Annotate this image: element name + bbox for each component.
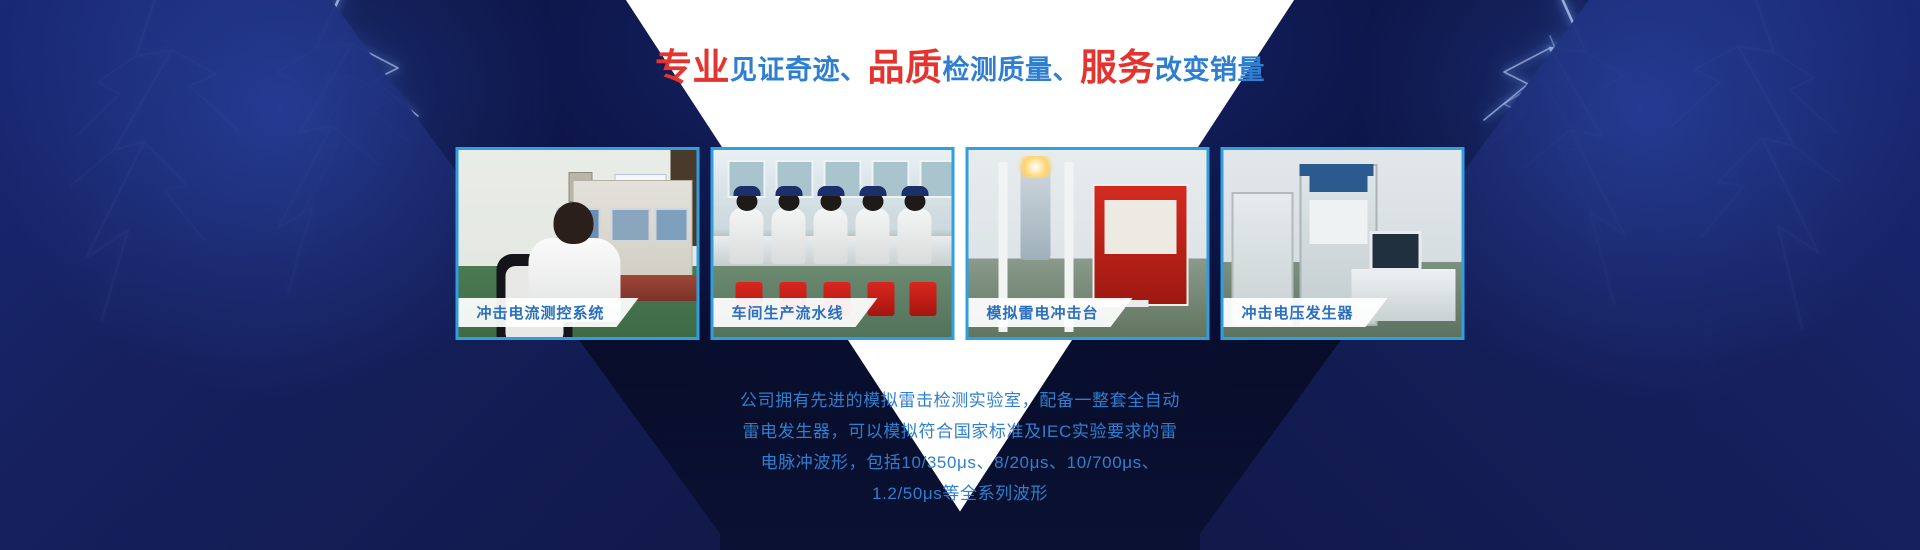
banner-content: 专业见证奇迹、品质检测质量、服务改变销量 冲击电流测控 (0, 0, 1920, 550)
headline-segment-2: 见证奇迹、 (730, 55, 868, 85)
headline-segment-1: 专业 (655, 47, 730, 88)
hero-banner: 专业见证奇迹、品质检测质量、服务改变销量 冲击电流测控 (0, 0, 1920, 550)
photo-card[interactable]: 模拟雷电冲击台 (966, 147, 1210, 340)
headline-segment-4: 检测质量、 (943, 55, 1081, 85)
page-title: 专业见证奇迹、品质检测质量、服务改变销量 (0, 46, 1920, 93)
description-line: 电脉冲波形，包括10/350μs、8/20μs、10/700μs、 (610, 447, 1310, 478)
description-text: 公司拥有先进的模拟雷击检测实验室，配备一整套全自动 雷电发生器，可以模拟符合国家… (610, 385, 1310, 509)
photo-card-caption: 冲击电流测控系统 (459, 298, 639, 327)
photo-card[interactable]: 冲击电流测控系统 (456, 147, 700, 340)
photo-card-list: 冲击电流测控系统 (456, 147, 1465, 340)
description-line: 雷电发生器，可以模拟符合国家标准及IEC实验要求的雷 (610, 416, 1310, 447)
headline-segment-6: 改变销量 (1155, 55, 1265, 85)
photo-card-caption: 模拟雷电冲击台 (969, 298, 1133, 327)
headline-segment-5: 服务 (1080, 47, 1155, 88)
photo-card-caption: 冲击电压发生器 (1224, 298, 1388, 327)
photo-card[interactable]: 冲击电压发生器 (1221, 147, 1465, 340)
headline-segment-3: 品质 (868, 47, 943, 88)
photo-card[interactable]: 车间生产流水线 (711, 147, 955, 340)
description-line: 公司拥有先进的模拟雷击检测实验室，配备一整套全自动 (610, 385, 1310, 416)
description-line: 1.2/50μs等全系列波形 (610, 478, 1310, 509)
photo-card-caption: 车间生产流水线 (714, 298, 878, 327)
